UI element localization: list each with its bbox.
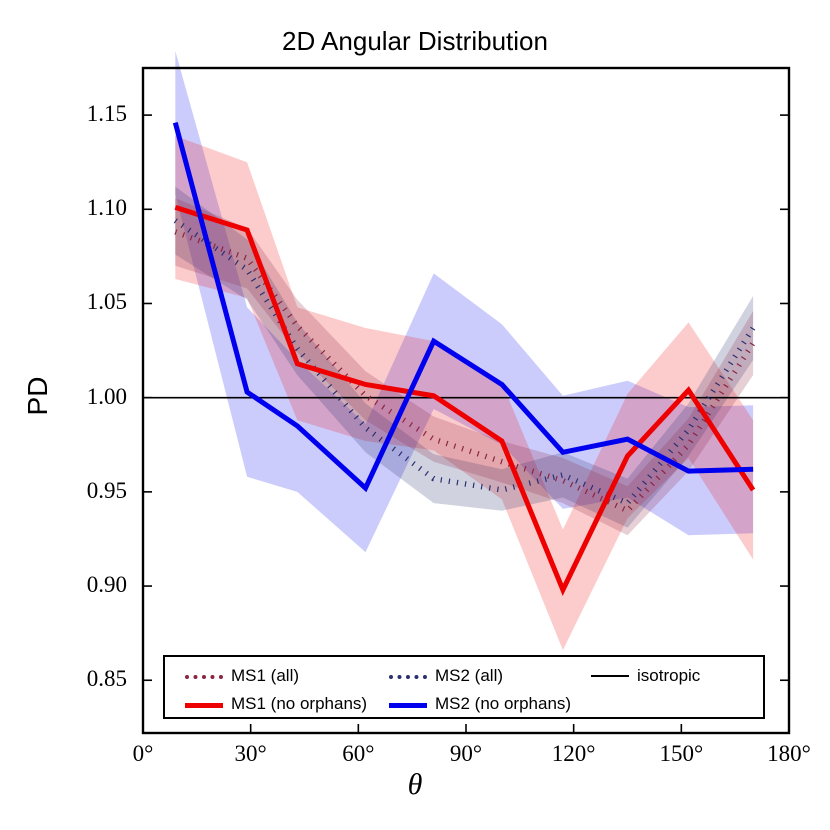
legend-label: MS1 (no orphans) <box>231 691 367 717</box>
legend-label: isotropic <box>637 663 700 689</box>
y-tick-label: 1.10 <box>47 195 127 221</box>
x-tick-label: 60° <box>318 741 398 767</box>
chart-legend: MS1 (all)MS2 (all)isotropicMS1 (no orpha… <box>163 655 765 719</box>
legend-label: MS1 (all) <box>231 663 299 689</box>
legend-swatch <box>185 703 223 708</box>
y-tick-label: 0.85 <box>47 666 127 692</box>
y-tick-label: 1.15 <box>47 101 127 127</box>
y-tick-label: 0.90 <box>47 572 127 598</box>
x-tick-label: 90° <box>426 741 506 767</box>
x-axis-title: θ <box>0 768 830 802</box>
x-tick-label: 0° <box>103 741 183 767</box>
legend-swatch <box>389 703 427 708</box>
legend-label: MS2 (all) <box>435 663 503 689</box>
y-tick-label: 0.95 <box>47 478 127 504</box>
legend-swatch <box>591 675 629 677</box>
x-tick-label: 120° <box>534 741 614 767</box>
y-tick-label: 1.00 <box>47 384 127 410</box>
y-tick-label: 1.05 <box>47 289 127 315</box>
legend-swatch <box>185 675 223 679</box>
figure: 2D Angular Distribution PD θ 0.850.900.9… <box>0 0 830 830</box>
legend-label: MS2 (no orphans) <box>435 691 571 717</box>
x-tick-label: 30° <box>211 741 291 767</box>
x-tick-label: 180° <box>749 741 829 767</box>
x-tick-label: 150° <box>641 741 721 767</box>
legend-swatch <box>389 675 427 679</box>
